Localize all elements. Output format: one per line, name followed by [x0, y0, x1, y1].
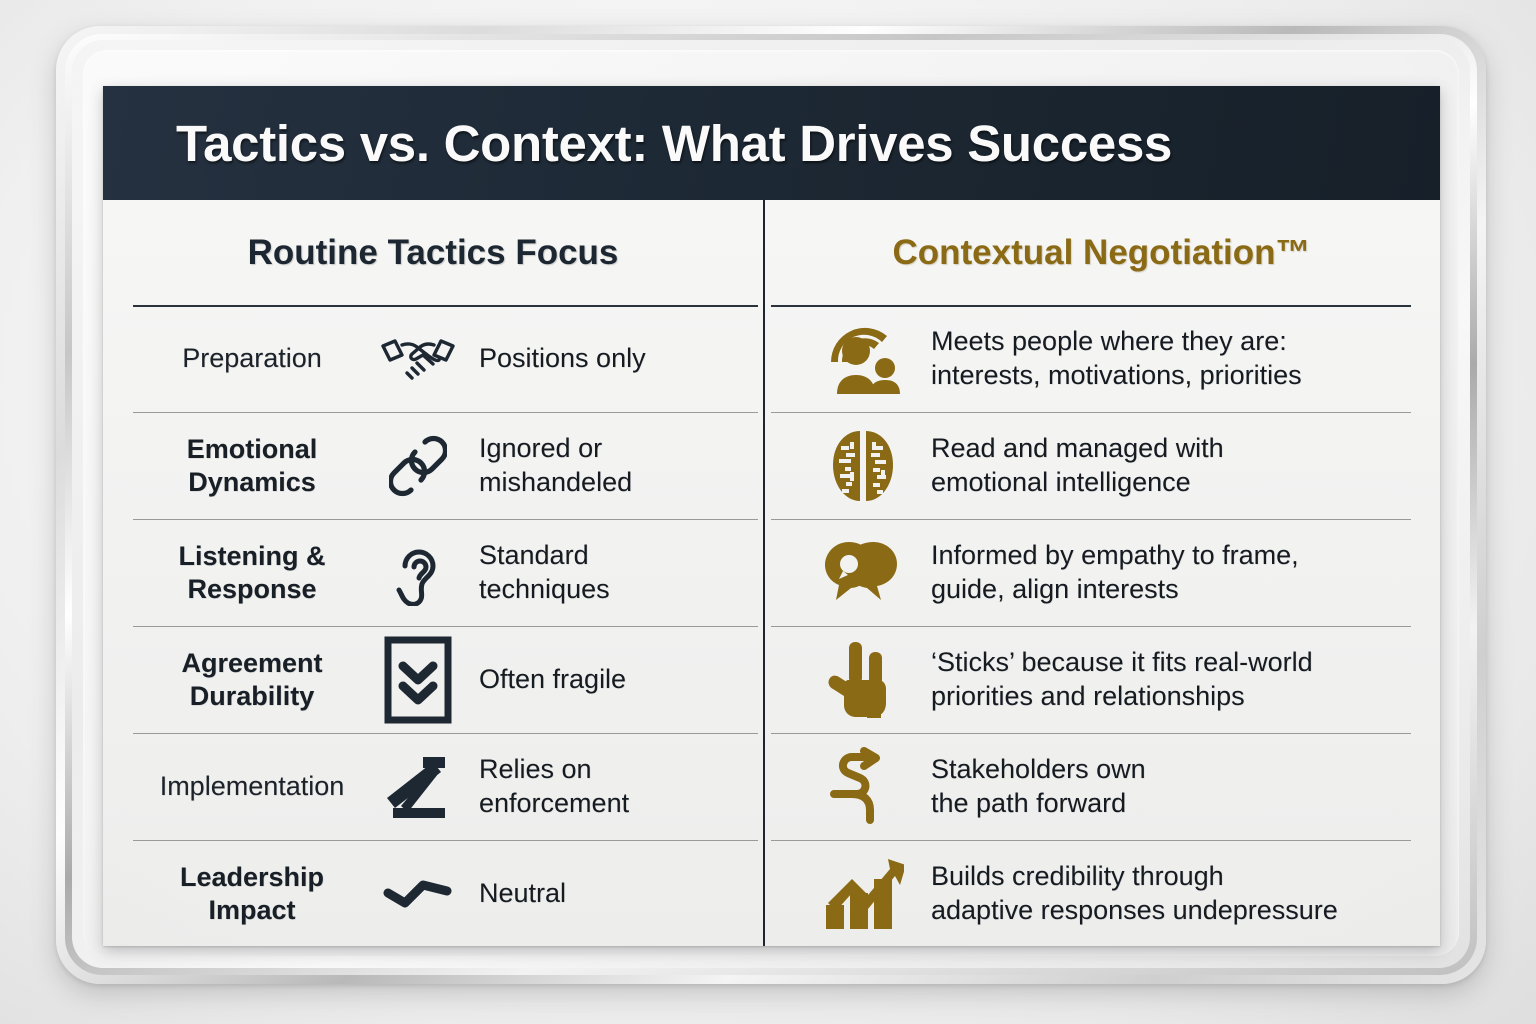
row-left-text: Standard techniques [473, 539, 737, 607]
row-left-text-line-1: Ignored or [479, 432, 737, 466]
row-right-text-line-2: interests, motivations, priorities [931, 359, 1424, 393]
brain-icon [801, 428, 925, 504]
column-header-left-label: Routine Tactics Focus [248, 233, 619, 273]
row-right-text: Meets people where they are: interests, … [925, 325, 1424, 393]
people-broadcast-icon [801, 320, 925, 398]
column-header-left: Routine Tactics Focus [103, 200, 763, 305]
row-cell-right: ‘Sticks’ because it fits real-world prio… [763, 626, 1440, 733]
row-cell-left: Emotional Dynamics Ignored or mishandele… [103, 412, 763, 519]
comparison-card: Tactics vs. Context: What Drives Success… [103, 86, 1440, 946]
table-row: Preparation [103, 305, 1440, 412]
row-label: Leadership Impact [141, 861, 363, 927]
row-right-text: Read and managed with emotional intellig… [925, 432, 1424, 500]
row-left-text: Neutral [473, 877, 737, 911]
row-cell-right: Read and managed with emotional intellig… [763, 412, 1440, 519]
row-left-text: Positions only [473, 342, 737, 376]
row-label: Emotional Dynamics [141, 433, 363, 499]
row-right-text-line-1: Read and managed with [931, 432, 1424, 466]
row-right-text: Builds credibility through adaptive resp… [925, 860, 1424, 928]
row-right-text-line-1: Stakeholders own [931, 753, 1424, 787]
row-cell-left: Preparation [103, 305, 763, 412]
table-row: Leadership Impact Neutral [103, 840, 1440, 947]
row-cell-left: Agreement Durability Often fragile [103, 626, 763, 733]
handshake-icon [363, 332, 473, 386]
card-header-bar: Tactics vs. Context: What Drives Success [103, 86, 1440, 200]
double-chevron-down-boxed-icon [363, 635, 473, 725]
growth-chart-arrow-icon [801, 855, 925, 933]
column-header-right-label: Contextual Negotiation™ [892, 233, 1310, 273]
row-left-text-line-1: Standard [479, 539, 737, 573]
row-left-text-line-1: Relies on [479, 753, 737, 787]
row-cell-right: Stakeholders own the path forward [763, 733, 1440, 840]
hand-icon [801, 640, 925, 720]
row-right-text-line-2: adaptive responses undepressure [931, 894, 1424, 928]
speech-bubbles-icon [801, 540, 925, 606]
comparison-rows: Preparation [103, 305, 1440, 947]
row-label: Implementation [141, 770, 363, 803]
row-label: Listening & Response [141, 540, 363, 606]
row-cell-right: Informed by empathy to frame, guide, ali… [763, 519, 1440, 626]
row-label: Agreement Durability [141, 647, 363, 713]
row-right-text-line-2: the path forward [931, 787, 1424, 821]
page-title: Tactics vs. Context: What Drives Success [176, 114, 1172, 173]
row-left-text-line-2: enforcement [479, 787, 737, 821]
row-right-text-line-1: ‘Sticks’ because it fits real-world [931, 646, 1424, 680]
row-right-text: Stakeholders own the path forward [925, 753, 1424, 821]
row-right-text: ‘Sticks’ because it fits real-world prio… [925, 646, 1424, 714]
row-cell-right: Builds credibility through adaptive resp… [763, 840, 1440, 947]
card-body: Routine Tactics Focus Contextual Negotia… [103, 200, 1440, 946]
row-right-text-line-2: emotional intelligence [931, 466, 1424, 500]
column-header-right: Contextual Negotiation™ [763, 200, 1440, 305]
table-row: Emotional Dynamics Ignored or mishandele… [103, 412, 1440, 519]
table-row: Agreement Durability Often fragile [103, 626, 1440, 733]
row-left-text: Often fragile [473, 663, 737, 697]
row-right-text-line-2: priorities and relationships [931, 680, 1424, 714]
row-left-text: Ignored or mishandeled [473, 432, 737, 500]
gavel-icon [363, 754, 473, 820]
row-left-text: Relies on enforcement [473, 753, 737, 821]
row-right-text-line-1: Informed by empathy to frame, [931, 539, 1424, 573]
row-right-text: Informed by empathy to frame, guide, ali… [925, 539, 1424, 607]
ear-icon [363, 540, 473, 606]
table-row: Implementation Relies on enforcement [103, 733, 1440, 840]
row-left-text-line-2: techniques [479, 573, 737, 607]
winding-path-arrow-icon [801, 747, 925, 827]
row-cell-left: Leadership Impact Neutral [103, 840, 763, 947]
row-cell-left: Listening & Response Standard techniques [103, 519, 763, 626]
row-label: Preparation [141, 342, 363, 375]
row-cell-left: Implementation Relies on enforcement [103, 733, 763, 840]
row-left-text-line-2: mishandeled [479, 466, 737, 500]
row-right-text-line-2: guide, align interests [931, 573, 1424, 607]
row-right-text-line-1: Meets people where they are: [931, 325, 1424, 359]
row-cell-right: Meets people where they are: interests, … [763, 305, 1440, 412]
table-row: Listening & Response Standard techniques [103, 519, 1440, 626]
row-right-text-line-1: Builds credibility through [931, 860, 1424, 894]
broken-link-icon [363, 435, 473, 497]
zigzag-line-icon [363, 877, 473, 911]
column-header-row: Routine Tactics Focus Contextual Negotia… [103, 200, 1440, 305]
